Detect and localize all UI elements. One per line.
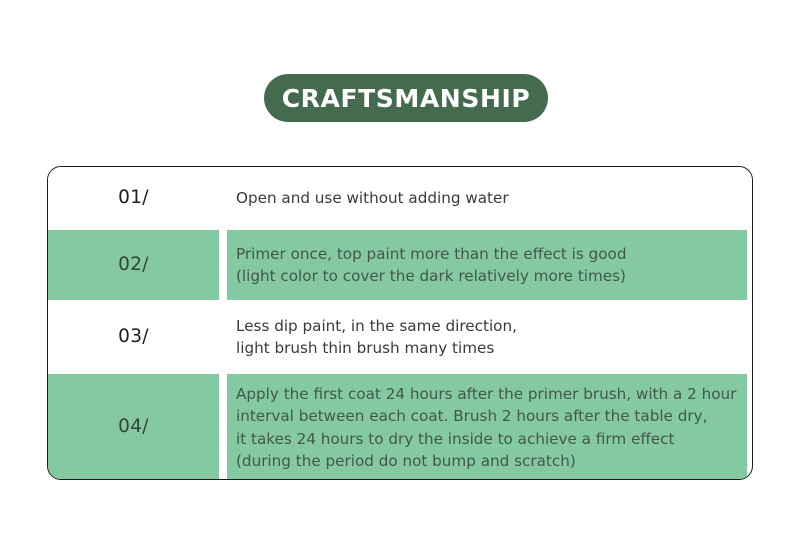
row-text-cell: Apply the first coat 24 hours after the …: [227, 374, 747, 480]
page-title: CRAFTSMANSHIP: [282, 86, 531, 111]
column-divider-gap: [219, 300, 227, 374]
row-number-label: 01/: [118, 189, 149, 208]
row-number-cell: 02/: [48, 230, 219, 300]
table-row: 02/ Primer once, top paint more than the…: [48, 230, 752, 300]
craftsmanship-table: 01/ Open and use without adding water 02…: [47, 166, 753, 480]
row-text-line: Primer once, top paint more than the eff…: [236, 243, 739, 265]
column-divider-gap: [219, 374, 227, 480]
row-number-cell: 04/: [48, 374, 219, 480]
row-number-cell: 03/: [48, 300, 219, 374]
row-text-line: Apply the first coat 24 hours after the …: [236, 383, 739, 405]
row-text-line: it takes 24 hours to dry the inside to a…: [236, 428, 739, 450]
row-number-cell: 01/: [48, 167, 219, 230]
column-divider-gap: [219, 167, 227, 230]
row-text-cell: Less dip paint, in the same direction, l…: [227, 300, 747, 374]
table-row: 04/ Apply the first coat 24 hours after …: [48, 374, 752, 480]
table-row: 01/ Open and use without adding water: [48, 167, 752, 230]
column-divider-gap: [219, 230, 227, 300]
row-text-line: Less dip paint, in the same direction,: [236, 315, 739, 337]
row-number-label: 02/: [118, 256, 149, 275]
row-number-label: 04/: [118, 418, 149, 437]
row-text-cell: Open and use without adding water: [227, 167, 747, 230]
row-text-line: light brush thin brush many times: [236, 337, 739, 359]
row-number-label: 03/: [118, 328, 149, 347]
row-text-line: interval between each coat. Brush 2 hour…: [236, 405, 739, 427]
row-text-cell: Primer once, top paint more than the eff…: [227, 230, 747, 300]
row-text-line: Open and use without adding water: [236, 187, 739, 209]
table-row: 03/ Less dip paint, in the same directio…: [48, 300, 752, 374]
row-text-line: (during the period do not bump and scrat…: [236, 450, 739, 472]
page-title-badge: CRAFTSMANSHIP: [264, 74, 548, 122]
row-text-line: (light color to cover the dark relativel…: [236, 265, 739, 287]
